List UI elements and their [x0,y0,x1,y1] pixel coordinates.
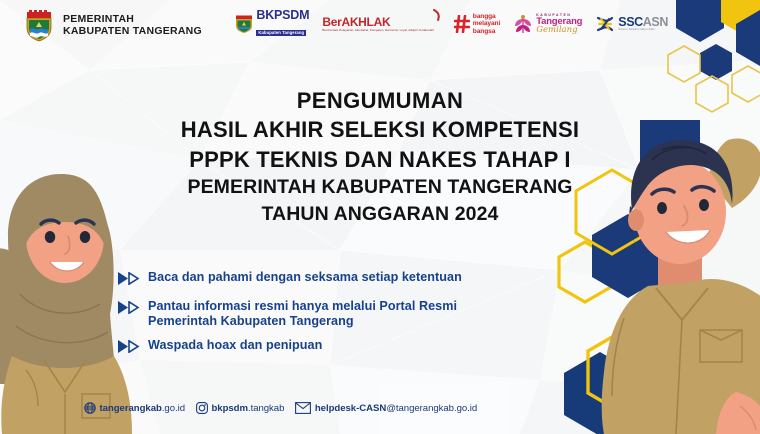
bkpsdm-title: BKPSDM [256,9,309,22]
tangerang-regency-crest-icon [24,9,54,42]
email-text: helpdesk-CASN@tangerangkab.go.id [315,403,477,414]
bullet-2-line-1: Pantau informasi resmi hanya melalui Por… [148,299,457,314]
instagram-contact[interactable]: bkpsdm.tangkab [196,402,284,414]
sscasn-subtitle: Sistem Seleksi Calon ASN [618,29,668,32]
title-line-3: PPPK TEKNIS DAN NAKES TAHAP I [0,145,760,174]
tangerang-ornament-icon [513,14,533,34]
list-item: Baca dan pahami dengan seksama setiap ke… [118,270,588,290]
berakhlak-title: BerAKHLAK [322,16,433,28]
woman-eye-left [45,231,55,243]
bullet-2-line-2: Pemerintah Kabupaten Tangerang [148,314,457,329]
instructions-list: Baca dan pahami dengan seksama setiap ke… [118,270,588,358]
list-item: Waspada hoax dan penipuan [118,338,588,358]
hash-icon [454,15,470,33]
email-contact[interactable]: helpdesk-CASN@tangerangkab.go.id [295,402,477,414]
title-line-5: TAHUN ANGGARAN 2024 [0,201,760,228]
double-arrow-icon [118,301,140,319]
berakhlak-logo: BerAKHLAK Berorientasi Pelayanan, Akunta… [322,9,440,39]
title-line-4: PEMERINTAH KABUPATEN TANGERANG [0,174,760,201]
double-arrow-icon [118,272,140,290]
tangerang-gemilang-script: Gemilang [536,26,582,35]
sscasn-ssc: SSC [618,15,643,29]
bangga-line-1: bangga [473,13,500,20]
sscasn-asn: ASN [643,15,668,29]
announcement-poster: PEMERINTAH KABUPATEN TANGERANG BKPSDM Ka… [0,0,760,434]
envelope-icon [295,402,311,414]
bangga-line-2: melayani [473,20,500,27]
list-item: Pantau informasi resmi hanya melalui Por… [118,299,588,329]
government-identity: PEMERINTAH KABUPATEN TANGERANG [24,9,202,42]
bkpsdm-logo: BKPSDM Kabupaten Tangerang [235,9,309,39]
poster-header: PEMERINTAH KABUPATEN TANGERANG BKPSDM Ka… [0,0,760,50]
website-contact[interactable]: tangerangkab.go.id [84,402,185,414]
instagram-icon [196,402,208,414]
berakhlak-swoosh-icon [433,9,441,23]
double-arrow-icon [118,340,140,358]
title-line-1: PENGUMUMAN [0,86,760,115]
sscasn-logo: SSCASN Sistem Seleksi Calon ASN [595,9,668,39]
crest-line-1: PEMERINTAH [63,14,202,26]
contact-footer: tangerangkab.go.id bkpsdm.tangkab helpde… [84,402,477,414]
website-text: tangerangkab.go.id [100,403,185,414]
sscasn-mark-icon [595,14,615,34]
announcement-title-block: PENGUMUMAN HASIL AKHIR SELEKSI KOMPETENS… [0,86,760,227]
globe-icon [84,402,96,414]
bkpsdm-crest-icon [235,14,253,34]
bangga-line-3: bangsa [473,28,500,35]
title-line-2: HASIL AKHIR SELEKSI KOMPETENSI [0,115,760,144]
bullet-1-line-1: Baca dan pahami dengan seksama setiap ke… [148,270,462,285]
berakhlak-subtitle: Berorientasi Pelayanan, Akuntabel, Kompe… [322,29,433,33]
tangerang-gemilang-logo: KABUPATEN Tangerang Gemilang [513,9,582,39]
instagram-text: bkpsdm.tangkab [211,403,284,414]
partner-logo-strip: BKPSDM Kabupaten Tangerang BerAKHLAK Ber… [235,9,668,39]
woman-eye-right [80,231,90,243]
bullet-3-line-1: Waspada hoax dan penipuan [148,338,322,353]
bangga-melayani-bangsa-logo: bangga melayani bangsa [454,9,500,39]
bkpsdm-subtitle: Kabupaten Tangerang [256,30,306,36]
crest-line-2: KABUPATEN TANGERANG [63,26,202,38]
